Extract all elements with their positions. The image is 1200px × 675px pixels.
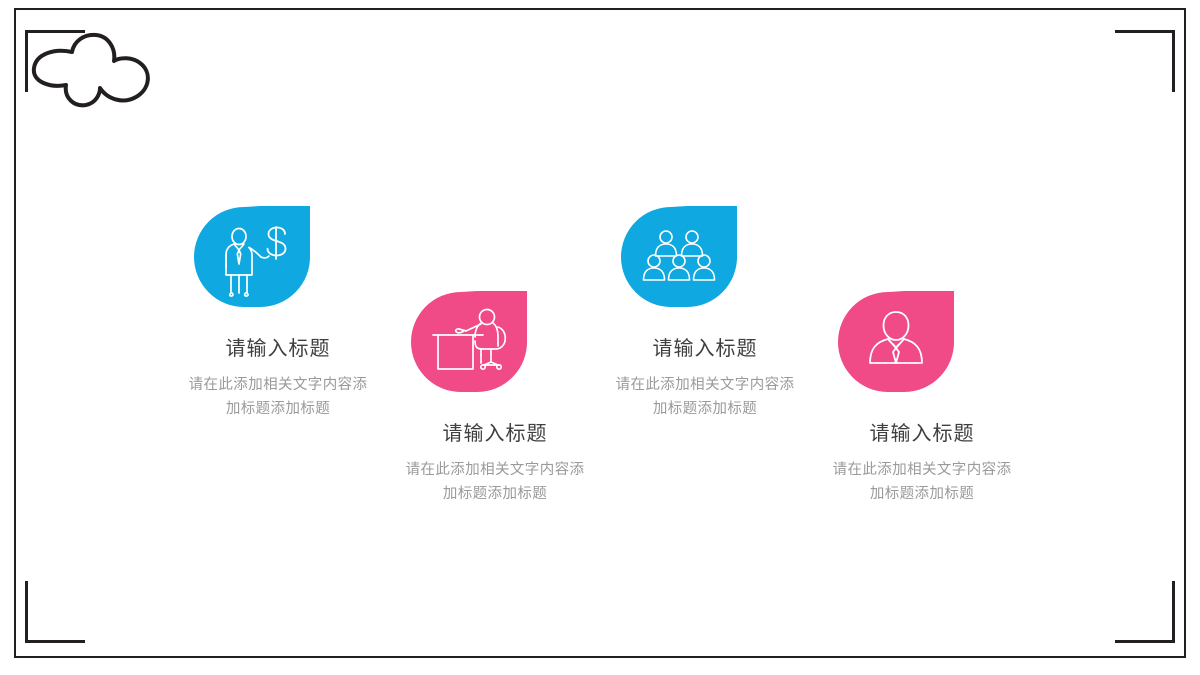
feature-desc-4: 请在此添加相关文字内容添加标题添加标题 (827, 459, 1017, 507)
feature-item-4[interactable]: 请输入标题 请在此添加相关文字内容添加标题添加标题 (792, 291, 1052, 507)
person-at-desk-icon (411, 291, 527, 392)
businessman-bust-icon (838, 291, 954, 392)
corner-bracket-top-right (1115, 30, 1175, 92)
feature-icon-badge-4[interactable] (838, 291, 954, 392)
feature-title-2: 请输入标题 (365, 422, 625, 446)
feature-desc-3: 请在此添加相关文字内容添加标题添加标题 (610, 374, 800, 422)
cloud-flower-logo (28, 28, 164, 110)
feature-title-4: 请输入标题 (792, 422, 1052, 446)
feature-desc-2: 请在此添加相关文字内容添加标题添加标题 (400, 459, 590, 507)
slide-canvas: 请输入标题 请在此添加相关文字内容添加标题添加标题 (0, 0, 1200, 675)
businessman-with-dollar-icon (194, 206, 310, 307)
feature-desc-1: 请在此添加相关文字内容添加标题添加标题 (183, 374, 373, 422)
feature-icon-badge-1[interactable] (194, 206, 310, 307)
group-of-people-icon (621, 206, 737, 307)
corner-bracket-bottom-right (1115, 581, 1175, 643)
feature-icon-badge-2[interactable] (411, 291, 527, 392)
feature-icon-badge-3[interactable] (621, 206, 737, 307)
corner-bracket-bottom-left (25, 581, 85, 643)
